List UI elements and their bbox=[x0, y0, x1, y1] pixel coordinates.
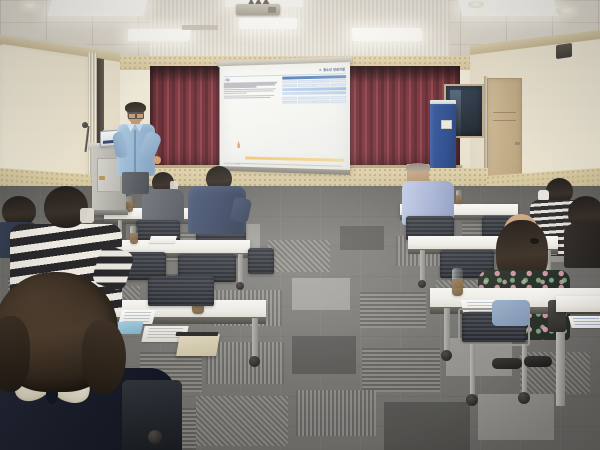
ceiling-air-vent bbox=[182, 25, 218, 30]
hair-tie bbox=[530, 238, 539, 244]
slide-paragraph bbox=[224, 95, 277, 99]
slide-paragraph bbox=[224, 89, 277, 95]
notebook-spine bbox=[176, 332, 219, 336]
slide-table bbox=[282, 75, 346, 104]
shoe bbox=[492, 358, 522, 369]
slide-left-heading: □ 개요 bbox=[224, 77, 277, 82]
presenter-trousers bbox=[122, 172, 149, 194]
table-caster bbox=[441, 350, 452, 361]
table-cell bbox=[282, 80, 297, 83]
water-bottle[interactable] bbox=[130, 226, 138, 244]
wall-speaker bbox=[556, 43, 572, 59]
attendee-center-left bbox=[186, 166, 248, 232]
seminar-table bbox=[556, 296, 600, 312]
attendee-hair-strand bbox=[82, 320, 126, 394]
slide-left-column: □ 개요 bbox=[224, 77, 277, 101]
face-mask bbox=[80, 208, 94, 223]
projection-screen: 3. 청소년 진로지원 □ 개요 bbox=[218, 56, 352, 180]
table-cell bbox=[314, 83, 330, 86]
table-cell bbox=[282, 84, 297, 87]
ceiling-panel-light bbox=[127, 29, 190, 41]
table-cell bbox=[330, 100, 346, 103]
ceiling-panel-light bbox=[351, 28, 422, 41]
ceiling-downlight bbox=[22, 2, 38, 9]
ceiling-panel-light bbox=[47, 0, 149, 16]
presenter-shirt-placket bbox=[134, 130, 136, 174]
table-cell bbox=[298, 97, 313, 100]
table-cell bbox=[282, 100, 297, 103]
ceiling-projector bbox=[236, 0, 280, 15]
chair-leg bbox=[470, 344, 475, 396]
chair-caster bbox=[466, 394, 478, 406]
table-row bbox=[282, 100, 346, 104]
presenter bbox=[112, 104, 158, 190]
table-cell bbox=[330, 79, 346, 82]
slide-accent-band bbox=[245, 156, 344, 162]
water-bottle[interactable] bbox=[456, 190, 462, 204]
paper-handout[interactable] bbox=[568, 316, 600, 328]
screen-surface: 3. 청소년 진로지원 □ 개요 bbox=[220, 62, 351, 172]
chair-caster bbox=[148, 430, 162, 444]
table-cell bbox=[282, 97, 297, 100]
door-panel-seam bbox=[493, 120, 516, 121]
office-chair-back[interactable] bbox=[248, 248, 274, 274]
slide-paragraph bbox=[224, 82, 277, 88]
eyeglasses-icon bbox=[127, 112, 144, 116]
table-caster bbox=[418, 280, 426, 288]
entry-door[interactable] bbox=[487, 78, 522, 182]
chair-caster bbox=[518, 392, 530, 404]
table-cell bbox=[298, 83, 313, 86]
seminar-room-photo: 3. 청소년 진로지원 □ 개요 bbox=[0, 0, 600, 450]
table-highlight-band bbox=[282, 91, 346, 95]
ceiling-downlight bbox=[556, 7, 576, 15]
presentation-slide: 3. 청소년 진로지원 □ 개요 bbox=[220, 62, 351, 172]
table-caster bbox=[249, 356, 260, 367]
attendee-torso bbox=[142, 189, 184, 223]
notebook[interactable] bbox=[176, 334, 220, 356]
projector-lens bbox=[268, 7, 276, 13]
table-leg bbox=[238, 254, 243, 284]
slide-footer-logo: 한국청소년정책연구원 bbox=[224, 162, 240, 165]
attendee-hair bbox=[406, 163, 430, 172]
table-cell bbox=[314, 96, 330, 99]
table-cell bbox=[330, 83, 346, 86]
slide-text-line bbox=[224, 86, 257, 88]
table-leg bbox=[420, 250, 425, 282]
slide-person-icon bbox=[237, 141, 240, 148]
table-cell bbox=[298, 80, 313, 83]
table-cell bbox=[314, 79, 330, 82]
ceiling-downlight bbox=[468, 1, 484, 8]
table-leg bbox=[444, 308, 450, 354]
shoe bbox=[524, 356, 552, 367]
table-cell bbox=[330, 96, 346, 99]
slide-text-line bbox=[224, 97, 271, 99]
slide-text-line bbox=[224, 93, 247, 94]
paper-text-lines bbox=[573, 318, 600, 327]
cabinet-label bbox=[441, 120, 452, 129]
door-handle[interactable] bbox=[515, 142, 520, 145]
ceiling-panel-light bbox=[239, 18, 297, 29]
table-cell bbox=[298, 100, 313, 103]
attendee-right-edge bbox=[568, 196, 600, 240]
attendee-torso bbox=[564, 224, 600, 268]
microphone-head bbox=[82, 122, 88, 128]
door-panel-seam bbox=[493, 112, 516, 113]
chair-leg bbox=[522, 344, 527, 394]
table-leg bbox=[252, 318, 258, 360]
attendee-right-back bbox=[404, 164, 458, 224]
lectern-latch[interactable] bbox=[99, 176, 105, 180]
attendee-leg bbox=[492, 300, 530, 326]
paper-handout[interactable] bbox=[149, 236, 177, 243]
table-cell bbox=[314, 100, 330, 103]
table-caster bbox=[236, 282, 244, 290]
water-bottle[interactable] bbox=[452, 268, 463, 296]
slide-title: 3. 청소년 진로지원 bbox=[319, 66, 345, 72]
